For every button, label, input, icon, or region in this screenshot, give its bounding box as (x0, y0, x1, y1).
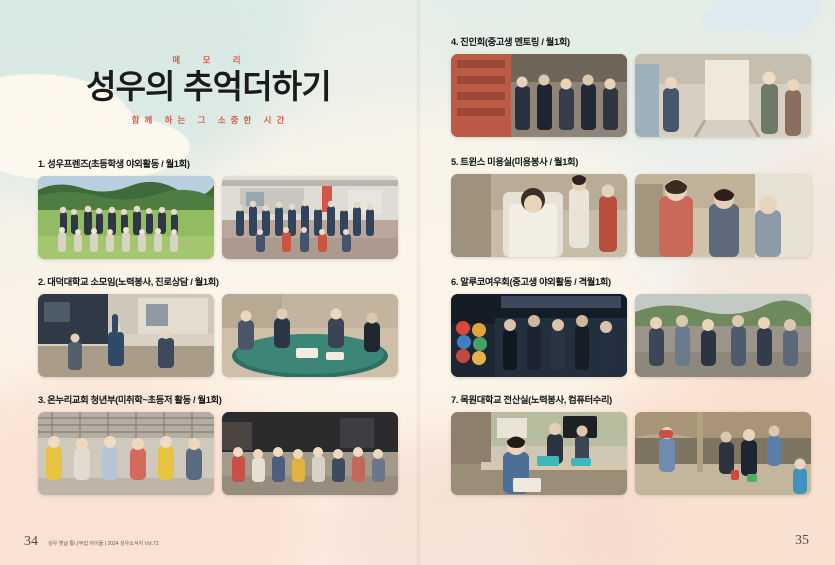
photo-haircut-service-2[interactable] (635, 174, 811, 257)
photo-bookshelf-mentoring[interactable] (451, 54, 627, 137)
section-5-photo-row (451, 174, 811, 257)
photo-computer-repair-desk-image (451, 412, 627, 495)
masthead-tagline: 함께 하는 그 소중한 시간 (4, 116, 417, 125)
photo-haircut-service-2-image (635, 174, 811, 257)
section-4-title: 4. 진인회(중고생 멘토링 / 월1회) (451, 38, 811, 47)
photo-indoor-volunteer-work-image (38, 294, 214, 377)
photo-workshop-mentoring-image (635, 54, 811, 137)
page-title: 성우의 추억더하기 (0, 69, 417, 106)
section-2-title: 2. 대덕대학교 소모임(노력봉사, 진로상담 / 월1회) (38, 278, 398, 287)
section-6: 6. 알루코여우회(중고생 야외활동 / 격월1회) (451, 278, 811, 377)
photo-bowling-alley[interactable] (451, 294, 627, 377)
photo-outdoor-group-lawn-image (38, 176, 214, 259)
footer-right: 35 (795, 531, 809, 549)
section-7-title: 7. 목원대학교 전산실(노력봉사, 컴퓨터수리) (451, 396, 811, 405)
photo-group-building-entrance-image (222, 176, 398, 259)
section-5-title: 5. 트윈스 미용실(미용봉사 / 월1회) (451, 158, 811, 167)
photo-haircut-service-1-image (451, 174, 627, 257)
photo-career-counseling-table-image (222, 294, 398, 377)
photo-children-group-indoor-image (222, 412, 398, 495)
section-3-title: 3. 온누리교회 청년부(미취학~초등저 활동 / 월1회) (38, 396, 398, 405)
photo-career-counseling-table[interactable] (222, 294, 398, 377)
photo-computer-repair-desk[interactable] (451, 412, 627, 495)
photo-workshop-mentoring[interactable] (635, 54, 811, 137)
section-1: 1. 성우프렌즈(초등학생 야외활동 / 월1회) (38, 160, 398, 259)
photo-outdoor-walk-street-image (635, 294, 811, 377)
section-2-photo-row (38, 294, 398, 377)
photo-group-building-entrance[interactable] (222, 176, 398, 259)
photo-outdoor-cleanup-slope-image (635, 412, 811, 495)
section-7-photo-row (451, 412, 811, 495)
section-7: 7. 목원대학교 전산실(노력봉사, 컴퓨터수리) (451, 396, 811, 495)
masthead-eyebrow: 메 모 리 (6, 56, 417, 65)
photo-outdoor-group-lawn[interactable] (38, 176, 214, 259)
page-number-right: 35 (795, 533, 809, 548)
photo-children-group-indoor[interactable] (222, 412, 398, 495)
footer-left: 34 성우 옛날 통나무집 아이들 | 2024 성우소식지 Vol.72 (24, 535, 158, 549)
photo-outdoor-walk-street[interactable] (635, 294, 811, 377)
photo-bowling-alley-image (451, 294, 627, 377)
page-number-left: 34 (24, 535, 38, 549)
photo-outdoor-cleanup-slope[interactable] (635, 412, 811, 495)
section-6-title: 6. 알루코여우회(중고생 야외활동 / 격월1회) (451, 278, 811, 287)
photo-children-activity-room-image (38, 412, 214, 495)
section-5: 5. 트윈스 미용실(미용봉사 / 월1회) (451, 158, 811, 257)
photo-bookshelf-mentoring-image (451, 54, 627, 137)
footer-credit: 성우 옛날 통나무집 아이들 | 2024 성우소식지 Vol.72 (48, 542, 158, 547)
photo-indoor-volunteer-work[interactable] (38, 294, 214, 377)
section-3-photo-row (38, 412, 398, 495)
section-1-photo-row (38, 176, 398, 259)
left-page: 메 모 리 성우의 추억더하기 함께 하는 그 소중한 시간 1. 성우프렌즈(… (0, 0, 417, 565)
section-6-photo-row (451, 294, 811, 377)
photo-children-activity-room[interactable] (38, 412, 214, 495)
section-4-photo-row (451, 54, 811, 137)
section-2: 2. 대덕대학교 소모임(노력봉사, 진로상담 / 월1회) (38, 278, 398, 377)
section-4: 4. 진인회(중고생 멘토링 / 월1회) (451, 38, 811, 137)
section-1-title: 1. 성우프렌즈(초등학생 야외활동 / 월1회) (38, 160, 398, 169)
masthead: 메 모 리 성우의 추억더하기 함께 하는 그 소중한 시간 (0, 56, 417, 125)
magazine-spread: 메 모 리 성우의 추억더하기 함께 하는 그 소중한 시간 1. 성우프렌즈(… (0, 0, 835, 565)
right-page: 4. 진인회(중고생 멘토링 / 월1회) (418, 0, 835, 565)
photo-haircut-service-1[interactable] (451, 174, 627, 257)
section-3: 3. 온누리교회 청년부(미취학~초등저 활동 / 월1회) (38, 396, 398, 495)
